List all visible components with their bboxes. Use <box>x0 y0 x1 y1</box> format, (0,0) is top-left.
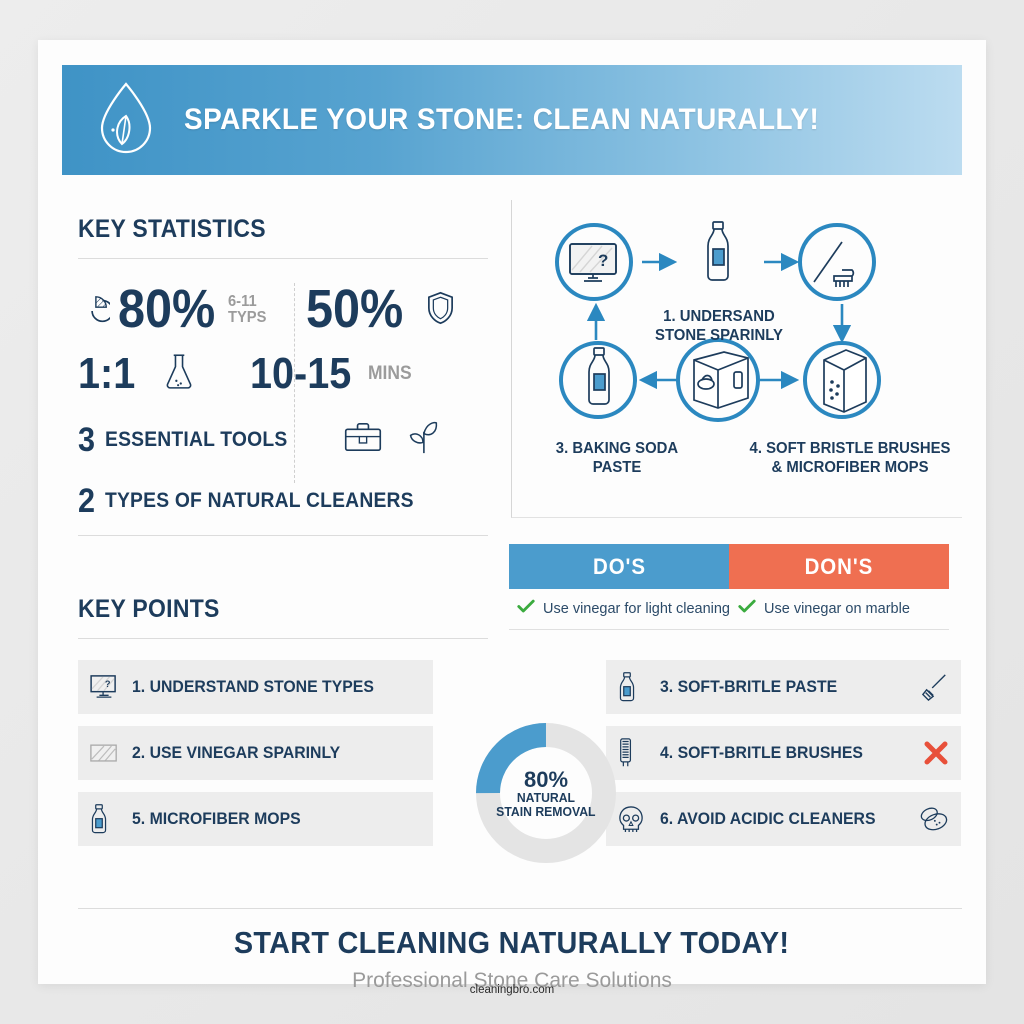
donut-label-line2: STAIN REMOVAL <box>496 805 595 819</box>
watermark: cleaningbro.com <box>38 984 986 996</box>
stat-value-types: 2 <box>78 485 95 517</box>
key-statistics-section: KEY STATISTICS 80% 6-11 TYPS <box>78 215 488 536</box>
dos-item-label: Use vinegar for light cleaning <box>543 601 730 617</box>
list-item[interactable]: ? 1. UNDERSTAND STONE TYPES <box>78 660 433 714</box>
bottle-icon <box>618 671 648 704</box>
donut-percent: 80% <box>524 768 568 791</box>
stat-row-3: 3 ESSENTIAL TOOLS <box>78 407 488 473</box>
stat-row-4: 2 TYPES OF NATURAL CLEANERS <box>78 473 488 529</box>
svg-text:?: ? <box>105 679 111 689</box>
footer-divider <box>78 908 962 909</box>
red-x-icon <box>913 740 949 766</box>
svg-text:?: ? <box>598 251 608 270</box>
stat-value-ratio: 1:1 <box>78 353 135 395</box>
list-item[interactable]: 3. SOFT-BRITLE PASTE <box>606 660 961 714</box>
dos-header-cell[interactable]: DO'S <box>509 544 729 589</box>
key-points-heading: KEY POINTS <box>78 595 455 624</box>
bottle-icon <box>90 803 120 836</box>
list-item-label: 6. AVOID ACIDIC CLEANERS <box>660 809 884 829</box>
key-statistics-heading: KEY STATISTICS <box>78 215 455 244</box>
stat-value-80: 80% <box>118 284 215 335</box>
broom-icon <box>913 673 949 701</box>
briefcase-icon <box>343 421 383 459</box>
list-item-label: 5. MICROFIBER MOPS <box>132 809 401 829</box>
flow-label-4: 4. SOFT BRISTLE BRUSHES & MICROFIBER MOP… <box>748 440 953 478</box>
monitor-question-icon: ? <box>90 675 120 699</box>
check-icon <box>738 599 756 619</box>
stat-row-1: 80% 6-11 TYPS 50% <box>78 279 488 341</box>
leaf-icon <box>407 419 439 462</box>
donut-center-text: 80% NATURAL STAIN REMOVAL <box>471 718 621 868</box>
lemon-icon <box>913 806 949 832</box>
list-item[interactable]: 6. AVOID ACIDIC CLEANERS <box>606 792 961 846</box>
footer-title: START CLEANING NATURALLY TODAY! <box>234 925 789 961</box>
stat-value-tools: 3 <box>78 424 95 456</box>
flask-icon <box>164 352 194 397</box>
stat-label-types: TYPES OF NATURAL CLEANERS <box>105 489 414 513</box>
stat-row-2: 1:1 10-15 MINS <box>78 341 488 407</box>
dos-donts-header: DO'S DON'S <box>509 544 949 589</box>
footer: START CLEANING NATURALLY TODAY! Professi… <box>38 925 986 993</box>
donut-chart: 80% NATURAL STAIN REMOVAL <box>471 718 621 868</box>
divider <box>509 629 949 630</box>
list-item-label: 4. SOFT-BRITLE BRUSHES <box>660 743 884 763</box>
donts-header-label: DON'S <box>805 554 874 580</box>
list-item-label: 2. USE VINEGAR SPARINLY <box>132 743 401 763</box>
infographic-card: SPARKLE YOUR STONE: CLEAN NATURALLY! KEY… <box>38 40 986 984</box>
list-item-label: 3. SOFT-BRITLE PASTE <box>660 677 884 697</box>
flow-label-1: 1. UNDERSAND STONE SPARINLY <box>631 308 808 346</box>
statistics-grid: 80% 6-11 TYPS 50% 1:1 <box>78 279 488 529</box>
pie-chart-icon <box>78 294 112 326</box>
list-item-label: 1. UNDERSTAND STONE TYPES <box>132 677 401 697</box>
donts-item-label: Use vinegar on marble <box>764 601 910 617</box>
key-points-right-column: 3. SOFT-BRITLE PASTE 4. SOFT-BRITLE BRUS… <box>606 660 961 858</box>
donut-label-line1: NATURAL <box>517 791 575 805</box>
donts-header-cell[interactable]: DON'S <box>729 544 949 589</box>
dos-item: Use vinegar for light cleaning <box>509 599 730 619</box>
dos-donts-row: Use vinegar for light cleaning Use vineg… <box>509 589 949 629</box>
brush-icon <box>618 738 648 768</box>
divider-below-stats <box>78 535 488 536</box>
list-item[interactable]: 2. USE VINEGAR SPARINLY <box>78 726 433 780</box>
key-points-left-column: ? 1. UNDERSTAND STONE TYPES 2. USE VINEG… <box>78 660 433 858</box>
dos-header-label: DO'S <box>593 554 646 580</box>
divider <box>78 638 488 639</box>
stat-value-minutes: 10-15 <box>250 353 351 395</box>
stat-sub-line1: 6-11 <box>228 294 266 310</box>
stat-sub-line2: TYPS <box>228 310 266 326</box>
process-flow-diagram: ? <box>511 200 962 518</box>
infographic-page: SPARKLE YOUR STONE: CLEAN NATURALLY! KEY… <box>0 0 1024 1024</box>
header-banner: SPARKLE YOUR STONE: CLEAN NATURALLY! <box>62 65 962 175</box>
header-title: SPARKLE YOUR STONE: CLEAN NATURALLY! <box>184 103 819 137</box>
list-item[interactable]: 4. SOFT-BRITLE BRUSHES <box>606 726 961 780</box>
flow-label-3: 3. BAKING SODA PASTE <box>529 440 706 478</box>
check-icon <box>517 599 535 619</box>
stat-label-tools: ESSENTIAL TOOLS <box>105 428 287 452</box>
skull-icon <box>618 805 648 833</box>
divider <box>78 258 488 259</box>
list-item[interactable]: 5. MICROFIBER MOPS <box>78 792 433 846</box>
shield-icon <box>426 291 455 330</box>
key-points-section: KEY POINTS <box>78 595 488 639</box>
donts-item: Use vinegar on marble <box>730 599 949 619</box>
tile-icon <box>90 743 120 764</box>
water-drop-leaf-icon <box>96 80 170 161</box>
stat-unit-mins: MINS <box>368 364 412 383</box>
dos-donts-section: DO'S DON'S Use vinegar for light cleanin… <box>509 544 949 630</box>
stat-value-50: 50% <box>306 284 403 335</box>
